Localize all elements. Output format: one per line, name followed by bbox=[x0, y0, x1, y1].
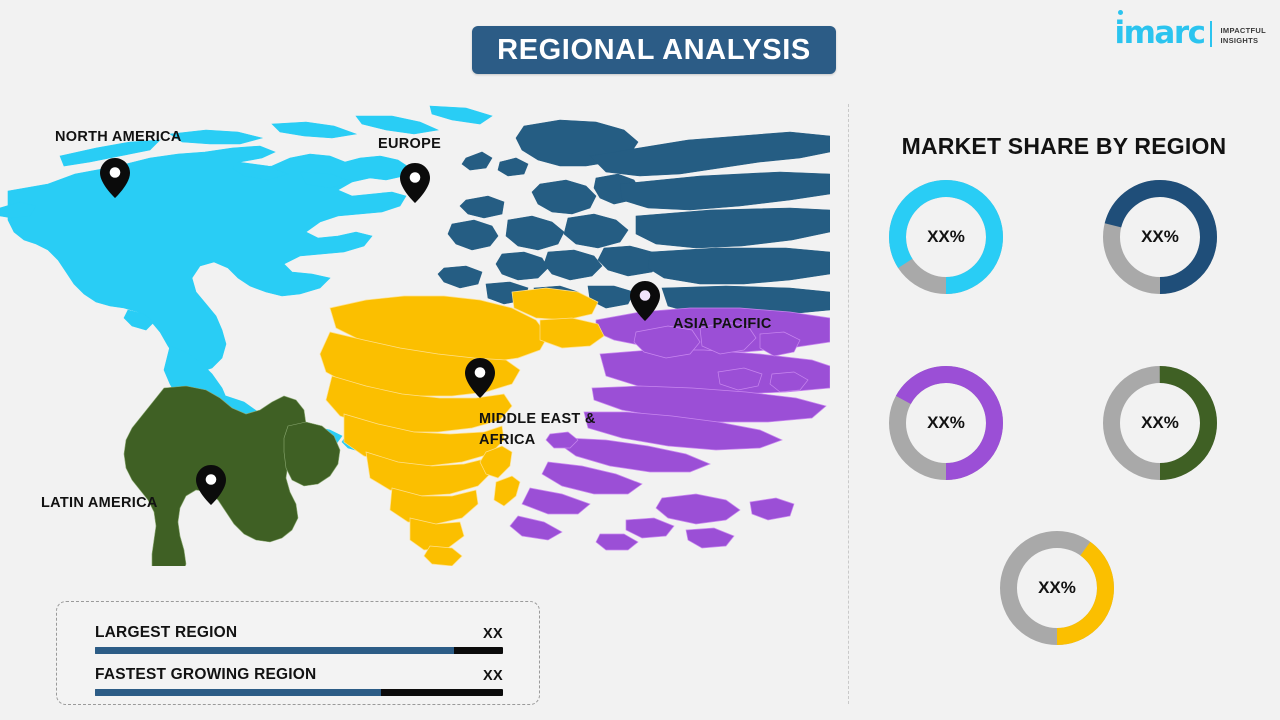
legend-row-header: LARGEST REGION XX bbox=[95, 624, 503, 642]
logo-divider-bar bbox=[1210, 21, 1212, 47]
donut-value-north-america: XX% bbox=[889, 180, 1003, 294]
legend-label-largest-region: LARGEST REGION bbox=[95, 624, 237, 642]
map-label-latin-america: LATIN AMERICA bbox=[41, 493, 158, 514]
brand-tagline-line1: IMPACTFUL bbox=[1221, 26, 1266, 36]
map-label-middle-east-africa: MIDDLE EAST & AFRICA bbox=[479, 409, 596, 451]
legend-label-fastest-growing-region: FASTEST GROWING REGION bbox=[95, 666, 316, 684]
logo-dot-icon bbox=[1118, 10, 1123, 15]
brand-logo-wordmark: imarc bbox=[1115, 18, 1205, 49]
section-divider bbox=[848, 104, 849, 704]
map-pin-asia-pacific[interactable] bbox=[630, 281, 660, 321]
donut-chart-north-america: XX% bbox=[889, 180, 1003, 294]
donut-chart-europe: XX% bbox=[1103, 180, 1217, 294]
brand-logo: imarc IMPACTFUL INSIGHTS bbox=[1115, 18, 1267, 49]
donut-chart-latin-america: XX% bbox=[1103, 366, 1217, 480]
legend-value-fastest-growing-region: XX bbox=[483, 668, 503, 684]
brand-tagline: IMPACTFUL INSIGHTS bbox=[1221, 26, 1266, 49]
map-label-europe: EUROPE bbox=[378, 134, 441, 155]
page-title: REGIONAL ANALYSIS bbox=[472, 26, 836, 74]
map-pin-middle-east-africa[interactable] bbox=[465, 358, 495, 398]
donut-chart-asia-pacific: XX% bbox=[889, 366, 1003, 480]
legend-row-fastest-growing-region: FASTEST GROWING REGION XX bbox=[95, 666, 503, 696]
donut-value-middle-east-africa: XX% bbox=[1000, 531, 1114, 645]
map-pin-latin-america[interactable] bbox=[196, 465, 226, 505]
donut-value-latin-america: XX% bbox=[1103, 366, 1217, 480]
legend-bar-fill-largest-region bbox=[95, 647, 454, 654]
map-label-asia-pacific: ASIA PACIFIC bbox=[673, 314, 772, 335]
infographic-canvas: REGIONAL ANALYSIS imarc IMPACTFUL INSIGH… bbox=[0, 0, 1280, 720]
map-pin-north-america[interactable] bbox=[100, 158, 130, 198]
donut-value-europe: XX% bbox=[1103, 180, 1217, 294]
brand-tagline-line2: INSIGHTS bbox=[1221, 36, 1266, 46]
map-pin-europe[interactable] bbox=[400, 163, 430, 203]
page-title-text: REGIONAL ANALYSIS bbox=[497, 34, 811, 67]
legend-value-largest-region: XX bbox=[483, 626, 503, 642]
donut-chart-middle-east-africa: XX% bbox=[1000, 531, 1114, 645]
charts-section-title: MARKET SHARE BY REGION bbox=[848, 133, 1280, 160]
legend-bar-track-largest-region bbox=[95, 647, 503, 654]
brand-logo-text: imarc bbox=[1115, 15, 1205, 51]
map-label-north-america: NORTH AMERICA bbox=[55, 127, 182, 148]
donut-value-asia-pacific: XX% bbox=[889, 366, 1003, 480]
legend-bar-track-fastest-growing-region bbox=[95, 689, 503, 696]
region-shape-latin-america bbox=[124, 386, 340, 566]
legend-panel: LARGEST REGION XX FASTEST GROWING REGION… bbox=[56, 601, 540, 705]
legend-row-largest-region: LARGEST REGION XX bbox=[95, 624, 503, 654]
legend-bar-fill-fastest-growing-region bbox=[95, 689, 381, 696]
legend-row-header: FASTEST GROWING REGION XX bbox=[95, 666, 503, 684]
